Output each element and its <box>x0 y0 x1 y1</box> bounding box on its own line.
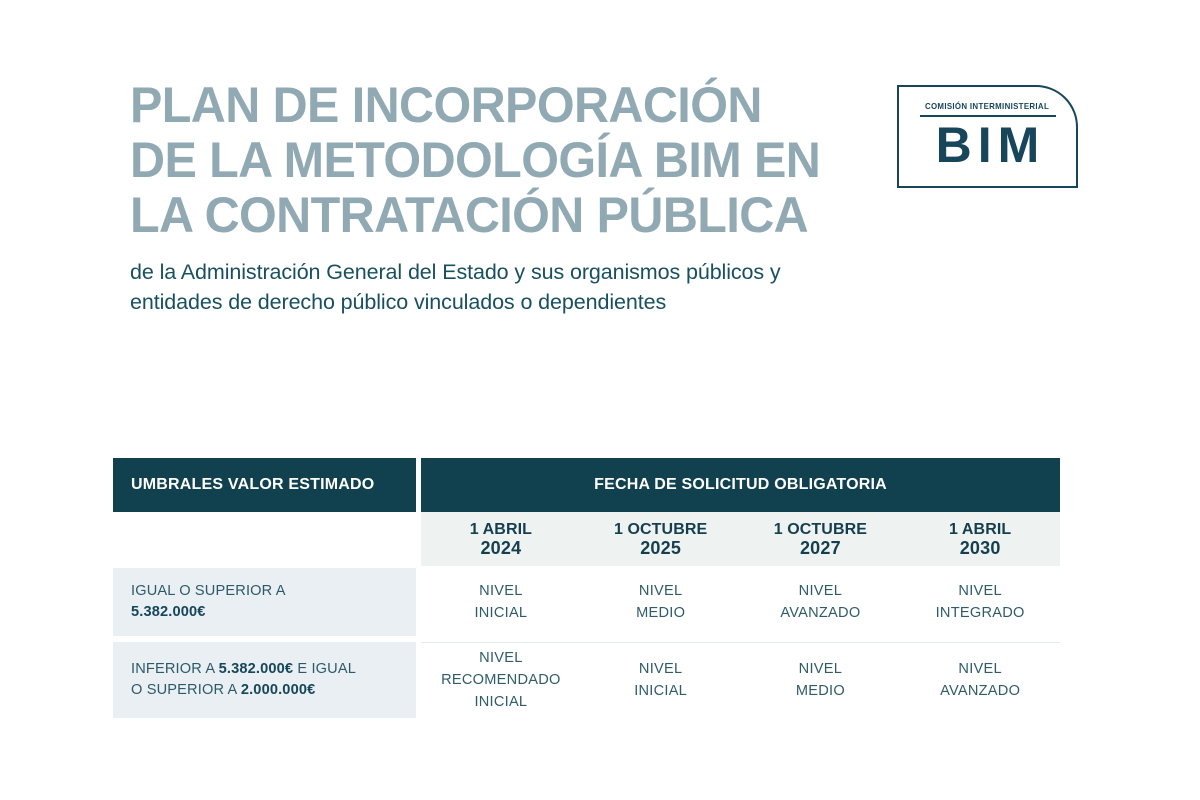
threshold-2-line2: O SUPERIOR A 2.000.000€ <box>131 680 400 701</box>
date-header-4: 1 ABRIL 2030 <box>900 520 1060 559</box>
threshold-cell-1: IGUAL O SUPERIOR A 5.382.000€ <box>113 568 416 636</box>
date-day-3: 1 OCTUBRE <box>741 520 901 539</box>
table-subheader-row: 1 ABRIL 2024 1 OCTUBRE 2025 1 OCTUBRE 20… <box>113 512 1060 566</box>
level-r2-c2: NIVEL INICIAL <box>581 658 741 702</box>
level-r2-c1: NIVEL RECOMENDADO INICIAL <box>421 647 581 713</box>
date-day-2: 1 OCTUBRE <box>581 520 741 539</box>
levels-row-2: NIVEL RECOMENDADO INICIAL NIVEL INICIAL … <box>421 642 1060 718</box>
threshold-1-line2: 5.382.000€ <box>131 602 400 623</box>
thresholds-table: UMBRALES VALOR ESTIMADO FECHA DE SOLICIT… <box>113 458 1060 718</box>
date-year-3: 2027 <box>741 539 901 558</box>
levels-row-1: NIVEL INICIAL NIVEL MEDIO NIVEL AVANZADO… <box>421 568 1060 636</box>
date-header-2: 1 OCTUBRE 2025 <box>581 520 741 559</box>
bim-logo-wordmark: BIM <box>930 119 1046 171</box>
bim-logo-caption: COMISIÓN INTERMINISTERIAL <box>925 101 1049 111</box>
subheader-blank-cell <box>113 512 416 566</box>
threshold-2-line1: INFERIOR A 5.382.000€ E IGUAL <box>131 659 400 680</box>
level-r1-c2: NIVEL MEDIO <box>581 580 741 624</box>
date-day-1: 1 ABRIL <box>421 520 581 539</box>
level-r2-c3: NIVEL MEDIO <box>741 658 901 702</box>
level-r1-c1: NIVEL INICIAL <box>421 580 581 624</box>
table-row: IGUAL O SUPERIOR A 5.382.000€ NIVEL INIC… <box>113 568 1060 636</box>
column-header-dates: FECHA DE SOLICITUD OBLIGATORIA <box>421 458 1060 512</box>
threshold-1-line1: IGUAL O SUPERIOR A <box>131 581 400 602</box>
column-header-thresholds: UMBRALES VALOR ESTIMADO <box>113 458 416 512</box>
threshold-cell-2: INFERIOR A 5.382.000€ E IGUAL O SUPERIOR… <box>113 642 416 718</box>
date-year-4: 2030 <box>900 539 1060 558</box>
date-header-1: 1 ABRIL 2024 <box>421 520 581 559</box>
date-header-3: 1 OCTUBRE 2027 <box>741 520 901 559</box>
level-r1-c3: NIVEL AVANZADO <box>741 580 901 624</box>
date-day-4: 1 ABRIL <box>900 520 1060 539</box>
table-header-row: UMBRALES VALOR ESTIMADO FECHA DE SOLICIT… <box>113 458 1060 512</box>
date-headers: 1 ABRIL 2024 1 OCTUBRE 2025 1 OCTUBRE 20… <box>421 512 1060 566</box>
level-r2-c4: NIVEL AVANZADO <box>900 658 1060 702</box>
level-r1-c4: NIVEL INTEGRADO <box>900 580 1060 624</box>
date-year-2: 2025 <box>581 539 741 558</box>
header-block: PLAN DE INCORPORACIÓN DE LA METODOLOGÍA … <box>130 78 870 317</box>
page-title: PLAN DE INCORPORACIÓN DE LA METODOLOGÍA … <box>130 78 848 243</box>
table-row: INFERIOR A 5.382.000€ E IGUAL O SUPERIOR… <box>113 642 1060 718</box>
bim-logo: COMISIÓN INTERMINISTERIAL BIM <box>897 85 1078 188</box>
page-subtitle: de la Administración General del Estado … <box>130 243 850 317</box>
date-year-1: 2024 <box>421 539 581 558</box>
